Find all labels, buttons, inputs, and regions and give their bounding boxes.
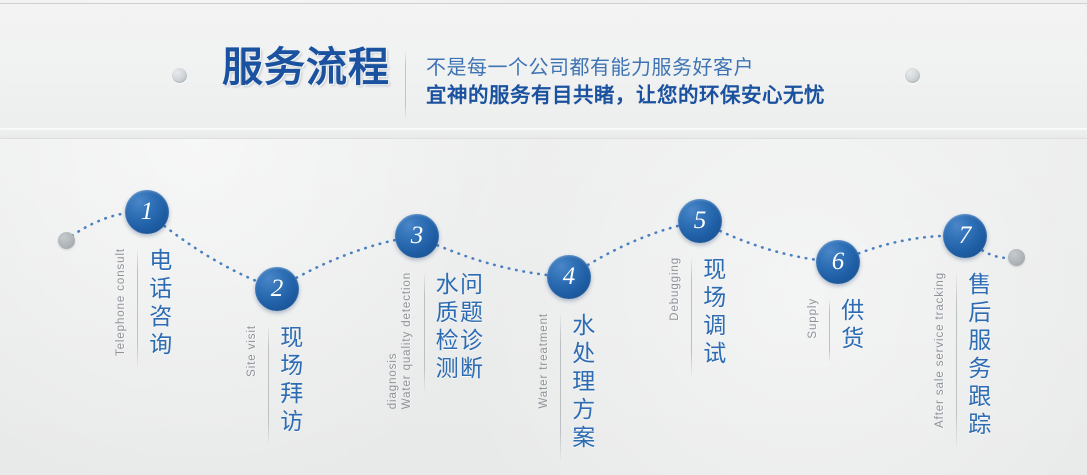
flow-step-node-6[interactable]: 6: [816, 240, 860, 284]
service-process-banner: 服务流程 不是每一个公司都有能力服务好客户 宜神的服务有目共睹，让您的环保安心无…: [0, 0, 1087, 475]
flow-end-dot: [1008, 249, 1025, 266]
flow-step-label-en: Supply: [806, 298, 820, 339]
flow-step-label-cn-column: 现场调试: [700, 257, 724, 369]
flow-step-node-3[interactable]: 3: [395, 214, 439, 258]
flow-step-label-2: 现场拜访Site visit: [245, 325, 302, 444]
flow-step-label-cn-column: 供货: [838, 298, 862, 354]
flow-step-label-cn-column: 水处理方案: [569, 313, 593, 453]
flow-step-label-divider: [829, 300, 830, 362]
title-divider: [405, 50, 406, 120]
subtitle-line-2: 宜神的服务有目共睹，让您的环保安心无忧: [426, 81, 825, 110]
flow-step-label-1: 电话咨询Telephone consult: [114, 248, 171, 367]
flow-step-label-cn: 水处理方案: [569, 313, 593, 453]
flow-step-node-5[interactable]: 5: [678, 199, 722, 243]
flow-step-node-7[interactable]: 7: [943, 214, 987, 258]
flow-step-label-en-line: Water quality detection: [400, 272, 414, 409]
screw-dot-icon: [905, 68, 920, 83]
flow-step-label-cn: 售后服务跟踪: [965, 272, 989, 440]
flow-step-label-cn-column: 水质检测: [433, 272, 457, 384]
flow-step-label-divider: [691, 259, 692, 376]
flow-step-node-4[interactable]: 4: [547, 255, 591, 299]
screw-dot-icon: [172, 68, 187, 83]
subtitle-block: 不是每一个公司都有能力服务好客户 宜神的服务有目共睹，让您的环保安心无忧: [426, 55, 825, 110]
flow-step-label-cn-column: 现场拜访: [277, 325, 301, 437]
flow-step-label-divider: [137, 250, 138, 367]
flow-step-label-cn-column: 电话咨询: [146, 248, 170, 360]
flow-step-label-en: Debugging: [668, 257, 682, 321]
flow-step-label-en-line: Supply: [806, 298, 820, 339]
flow-step-label-en: Telephone consult: [114, 248, 128, 356]
flow-dotted-segment: [417, 236, 569, 277]
flow-step-label-cn: 电话咨询: [146, 248, 170, 360]
flow-step-label-en: After sale service tracking: [933, 272, 947, 428]
flow-step-label-cn: 供货: [838, 298, 862, 354]
flow-step-label-en: Water treatment: [537, 313, 551, 409]
flow-step-label-cn: 现场拜访: [277, 325, 301, 437]
page-title: 服务流程: [222, 47, 390, 88]
flow-step-label-en-line: After sale service tracking: [933, 272, 947, 428]
flow-start-dot: [58, 232, 75, 249]
flow-step-label-en-line: Water treatment: [537, 313, 551, 409]
flow-step-node-1[interactable]: 1: [125, 190, 169, 234]
flow-step-label-en-line: Site visit: [245, 325, 259, 377]
flow-step-label-en: Water quality detectiondiagnosis: [386, 272, 415, 409]
flow-step-label-divider: [424, 274, 425, 391]
flow-step-label-cn-column: 问题诊断: [457, 272, 481, 384]
flow-step-label-en: Site visit: [245, 325, 259, 377]
subtitle-line-1: 不是每一个公司都有能力服务好客户: [426, 55, 825, 81]
flow-step-label-5: 现场调试Debugging: [668, 257, 725, 376]
flow-step-label-7: 售后服务跟踪After sale service tracking: [933, 272, 990, 447]
flow-step-label-divider: [560, 315, 561, 460]
flow-step-label-divider: [268, 327, 269, 444]
flow-step-label-en-line: Telephone consult: [114, 248, 128, 356]
header-banner-gloss: [0, 128, 1087, 131]
flow-step-label-3: 问题诊断水质检测Water quality detectiondiagnosis: [386, 272, 482, 409]
flow-step-label-divider: [956, 274, 957, 447]
flow-step-label-6: 供货Supply: [806, 298, 863, 362]
flow-step-label-en-line: diagnosis: [386, 272, 400, 409]
flow-step-label-cn-column: 售后服务跟踪: [965, 272, 989, 440]
flow-step-label-4: 水处理方案Water treatment: [537, 313, 594, 460]
flow-step-label-cn: 问题诊断水质检测: [433, 272, 482, 384]
flow-step-label-cn: 现场调试: [700, 257, 724, 369]
flow-step-node-2[interactable]: 2: [255, 267, 299, 311]
flow-step-label-en-line: Debugging: [668, 257, 682, 321]
